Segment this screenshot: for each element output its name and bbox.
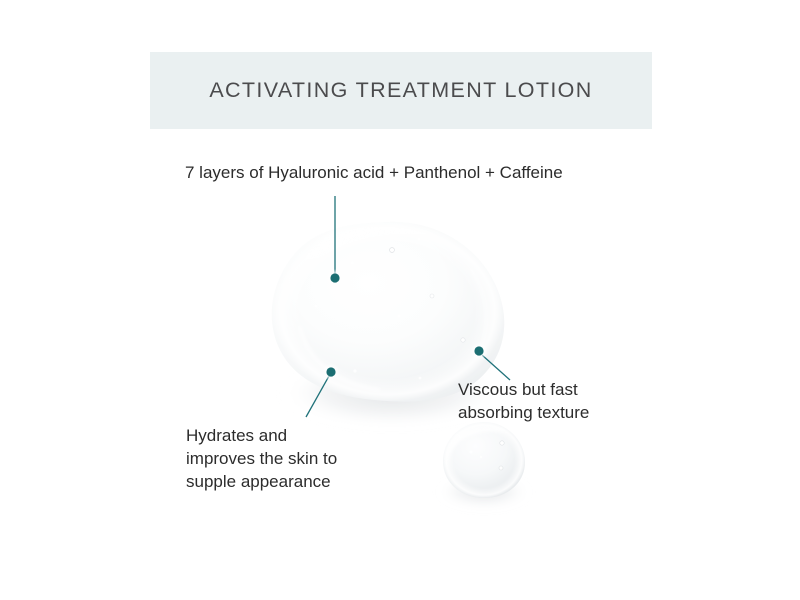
callout-label-hydration: Hydrates and improves the skin to supple…	[186, 424, 337, 493]
callout-marker-hydration[interactable]	[322, 363, 340, 381]
callout-label-texture: Viscous but fast absorbing texture	[458, 378, 589, 424]
callout-marker-ingredients[interactable]	[326, 269, 344, 287]
leader-line-texture	[482, 355, 510, 380]
small-droplet-shadow	[438, 477, 530, 507]
page-title: ACTIVATING TREATMENT LOTION	[209, 78, 592, 103]
product-infographic: ACTIVATING TREATMENT LOTION	[0, 0, 800, 600]
small-gel-droplet	[443, 422, 525, 498]
header-banner: ACTIVATING TREATMENT LOTION	[150, 52, 652, 129]
leader-line-hydration	[306, 376, 329, 417]
callout-label-ingredients: 7 layers of Hyaluronic acid + Panthenol …	[185, 161, 563, 184]
callout-marker-texture[interactable]	[470, 342, 488, 360]
large-gel-droplet	[272, 222, 504, 402]
